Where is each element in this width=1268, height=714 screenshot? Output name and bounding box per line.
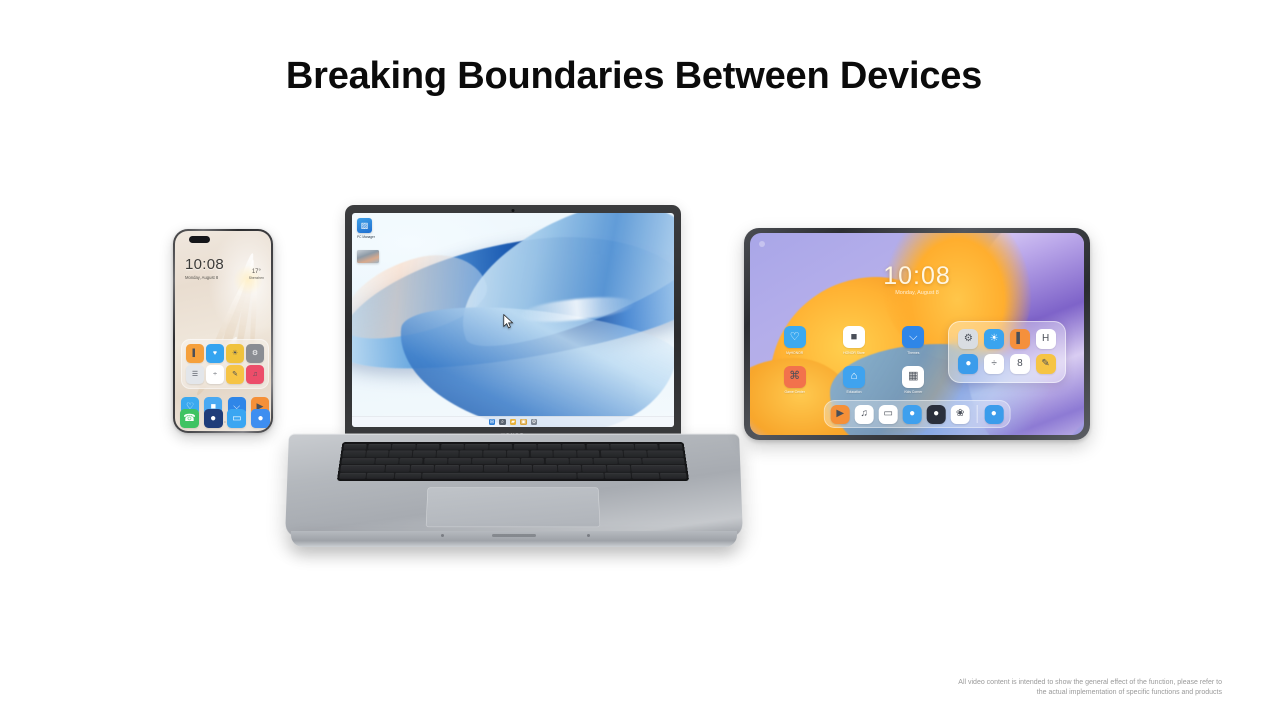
keyboard-key[interactable]: [647, 451, 683, 457]
weather-icon-glyph: ☀: [990, 334, 999, 344]
calendar-icon[interactable]: 8: [1010, 354, 1030, 374]
photos-icon-glyph: ❀: [956, 409, 964, 419]
widget-icon[interactable]: ▦: [902, 366, 924, 388]
keyboard-key[interactable]: [435, 465, 459, 471]
weather-icon[interactable]: ☀: [984, 329, 1004, 349]
laptop-device[interactable]: ▨ PC Manager ⊞⌕▰▣⚙ HONOR: [283, 205, 745, 550]
disclaimer-line-1: All video content is intended to show th…: [802, 678, 1222, 688]
themes-icon-glyph: ⌵: [909, 332, 917, 343]
keyboard-key[interactable]: [339, 473, 366, 479]
phone-weather-widget[interactable]: 17° Shenzhen: [249, 269, 264, 281]
notes-icon[interactable]: ▌: [186, 344, 204, 363]
keyboard-key[interactable]: [538, 444, 561, 450]
gallery-icon-glyph: ●: [933, 409, 939, 419]
camera-icon-glyph: ●: [257, 414, 263, 424]
keyboard-key[interactable]: [570, 458, 593, 464]
keyboard-key[interactable]: [342, 451, 365, 457]
dock-separator: [977, 405, 978, 423]
settings-icon[interactable]: ⚙: [958, 329, 978, 349]
search-icon[interactable]: ⌕: [499, 419, 506, 426]
keyboard-key[interactable]: [483, 451, 505, 457]
messages-icon[interactable]: ▭: [879, 405, 898, 424]
myhonor-icon[interactable]: ♡: [784, 326, 806, 348]
education-icon-glyph: ⌂: [851, 371, 858, 382]
keyboard-row[interactable]: [343, 444, 682, 450]
keyboard-key[interactable]: [410, 465, 434, 471]
rubber-foot-icon: [587, 534, 590, 537]
keyboard-key[interactable]: [366, 451, 389, 457]
status-indicator-icon: [759, 241, 765, 247]
keyboard-key[interactable]: [610, 444, 634, 450]
keyboard-key[interactable]: [600, 451, 623, 457]
keyboard-key[interactable]: [607, 465, 631, 471]
weather-location: Shenzhen: [249, 276, 264, 281]
keyboard-key[interactable]: [460, 465, 484, 471]
notes-icon[interactable]: ▌: [1010, 329, 1030, 349]
myhonor-icon-label: MyHONOR: [774, 351, 815, 355]
keyboard-key[interactable]: [660, 473, 687, 479]
settings-icon-glyph: ⚙: [252, 350, 258, 357]
appmarket-icon[interactable]: ■: [843, 326, 865, 348]
tablet-device[interactable]: 10:08 Monday, August 8 ♡MyHONOR■HONOR St…: [744, 228, 1090, 440]
keyboard-key[interactable]: [367, 473, 394, 479]
phone-lockscreen-clock: 10:08 Monday, August 8: [185, 257, 224, 281]
keyboard-key[interactable]: [659, 444, 683, 450]
memo-icon[interactable]: ✎: [1036, 354, 1056, 374]
keyboard-key[interactable]: [422, 473, 576, 479]
laptop-base: [283, 433, 745, 550]
keyboard-key[interactable]: [484, 465, 507, 471]
laptop-screen[interactable]: ▨ PC Manager ⊞⌕▰▣⚙: [352, 213, 674, 427]
keyboard-key[interactable]: [530, 451, 552, 457]
calculator-icon[interactable]: ÷: [206, 365, 224, 384]
presentation-slide: Breaking Boundaries Between Devices 10:0…: [0, 0, 1268, 714]
messages-icon-glyph: ▭: [232, 414, 241, 424]
keyboard-key[interactable]: [618, 458, 642, 464]
weather-icon[interactable]: ☀: [226, 344, 244, 363]
music-icon[interactable]: ♫: [246, 365, 264, 384]
keyboard-key[interactable]: [399, 458, 423, 464]
music-icon-glyph: ♫: [860, 409, 868, 419]
tablet-clock-time: 10:08: [750, 263, 1084, 289]
file-explorer-icon-glyph: ▰: [511, 420, 515, 425]
video-icon[interactable]: ▶: [831, 405, 850, 424]
calculator-icon[interactable]: ÷: [984, 354, 1004, 374]
store-icon[interactable]: ▣: [520, 419, 527, 426]
themes-icon[interactable]: ⌵: [902, 326, 924, 348]
tablet-home-app-grid[interactable]: ♡MyHONOR■HONOR Store⌵Themes⌘Game Center⌂…: [774, 326, 934, 394]
widget-icon-glyph: ▦: [908, 371, 918, 382]
gamecenter-icon-label: Game Center: [774, 390, 815, 394]
phone-dial-icon-glyph: ☎: [183, 414, 195, 424]
tablet-screen[interactable]: 10:08 Monday, August 8 ♡MyHONOR■HONOR St…: [750, 233, 1084, 435]
start-icon-glyph: ⊞: [490, 420, 494, 425]
disclaimer-footer: All video content is intended to show th…: [802, 678, 1222, 698]
honor-tips-icon-glyph: H: [1042, 334, 1049, 344]
keyboard-key[interactable]: [394, 473, 421, 479]
appmarket-icon-label: HONOR Store: [833, 351, 874, 355]
rubber-foot-icon: [441, 534, 444, 537]
tablet-app-item[interactable]: ⌵Themes: [893, 326, 934, 355]
tablet-app-item[interactable]: ⌘Game Center: [774, 366, 815, 395]
keyboard-key[interactable]: [586, 444, 610, 450]
keyboard-key[interactable]: [521, 458, 544, 464]
keyboard-key[interactable]: [642, 458, 684, 464]
keyboard-key[interactable]: [413, 451, 436, 457]
keyboard-key[interactable]: [514, 444, 537, 450]
keyboard-key[interactable]: [577, 473, 604, 479]
keyboard-key[interactable]: [624, 451, 647, 457]
myhonor-icon-glyph: ♡: [790, 332, 800, 343]
keyboard-key[interactable]: [460, 451, 482, 457]
music-icon[interactable]: ♫: [855, 405, 874, 424]
keyboard-row[interactable]: [342, 451, 683, 457]
edit-icon-glyph: ✎: [232, 371, 238, 378]
keyboard-key[interactable]: [386, 465, 410, 471]
contacts-icon[interactable]: ●: [958, 354, 978, 374]
contacts-icon-glyph: ●: [965, 359, 971, 369]
keyboard-key[interactable]: [489, 444, 512, 450]
health-icon-glyph: ♥: [213, 350, 217, 357]
keyboard-key[interactable]: [605, 473, 632, 479]
keyboard-key[interactable]: [554, 451, 577, 457]
keyboard-key[interactable]: [545, 458, 568, 464]
webcam-icon: [512, 209, 515, 212]
keyboard-row[interactable]: [340, 465, 686, 471]
messages-icon[interactable]: ▭: [227, 409, 246, 428]
notes-icon-glyph: ▌: [193, 350, 198, 357]
keyboard-key[interactable]: [509, 465, 532, 471]
keyboard-key[interactable]: [472, 458, 495, 464]
contacts-icon-glyph: ●: [991, 409, 997, 419]
keyboard-key[interactable]: [465, 444, 488, 450]
keyboard-key[interactable]: [343, 444, 367, 450]
tablet-clock-date: Monday, August 8: [750, 289, 1084, 298]
files-icon[interactable]: ☰: [186, 365, 204, 384]
picture-thumbnail-icon[interactable]: [357, 250, 379, 263]
keyboard-key[interactable]: [340, 465, 385, 471]
settings-icon[interactable]: ⚙: [531, 419, 538, 426]
smartphone-device[interactable]: 10:08 Monday, August 8 17° Shenzhen ▌♥☀⚙…: [173, 229, 273, 433]
messages-icon-glyph: ▭: [883, 409, 892, 419]
contacts-icon[interactable]: ●: [984, 405, 1003, 424]
keyboard-key[interactable]: [562, 444, 585, 450]
keyboard-key[interactable]: [632, 473, 659, 479]
keyboard-key[interactable]: [497, 458, 520, 464]
settings-icon-glyph: ⚙: [532, 420, 536, 425]
settings-icon-glyph: ⚙: [964, 334, 973, 344]
keyboard-key[interactable]: [392, 444, 416, 450]
gallery-icon[interactable]: ●: [927, 405, 946, 424]
keyboard-key[interactable]: [368, 444, 392, 450]
keyboard-key[interactable]: [416, 444, 440, 450]
tablet-folder-panel[interactable]: ⚙☀▌H●÷8✎: [948, 321, 1066, 383]
keyboard-key[interactable]: [582, 465, 606, 471]
keyboard-key[interactable]: [507, 451, 529, 457]
laptop-lid: ▨ PC Manager ⊞⌕▰▣⚙ HONOR: [345, 205, 681, 439]
laptop-deck: [285, 434, 743, 538]
keyboard-key[interactable]: [424, 458, 448, 464]
browser-icon[interactable]: ●: [903, 405, 922, 424]
browser-icon[interactable]: ●: [204, 409, 223, 428]
pc-manager-icon[interactable]: ▨: [357, 218, 372, 233]
keyboard-key[interactable]: [594, 458, 618, 464]
tablet-clock-widget[interactable]: 10:08 Monday, August 8: [750, 263, 1084, 298]
keyboard-key[interactable]: [448, 458, 471, 464]
keyboard-key[interactable]: [389, 451, 412, 457]
tablet-app-item[interactable]: ♡MyHONOR: [774, 326, 815, 355]
gamecenter-icon-glyph: ⌘: [789, 371, 800, 382]
keyboard-key[interactable]: [577, 451, 600, 457]
honor-tips-icon[interactable]: H: [1036, 329, 1056, 349]
tablet-app-item[interactable]: ⌂Education: [833, 366, 874, 395]
keyboard-row[interactable]: [339, 473, 687, 479]
health-icon[interactable]: ♥: [206, 344, 224, 363]
desktop-icons[interactable]: ▨ PC Manager: [357, 218, 391, 263]
pc-manager-label: PC Manager: [357, 235, 391, 240]
video-icon-glyph: ▶: [836, 409, 844, 419]
front-camera-cutout-icon: [189, 236, 210, 243]
keyboard-key[interactable]: [341, 458, 374, 464]
devices-stage: 10:08 Monday, August 8 17° Shenzhen ▌♥☀⚙…: [0, 0, 1268, 714]
phone-folder-panel[interactable]: ▌♥☀⚙☰÷✎♫: [181, 339, 269, 389]
keyboard-key[interactable]: [441, 444, 464, 450]
memo-icon-glyph: ✎: [1041, 359, 1049, 369]
keyboard-key[interactable]: [631, 465, 685, 471]
browser-icon-glyph: ●: [909, 409, 915, 419]
edit-icon[interactable]: ✎: [226, 365, 244, 384]
themes-icon-label: Themes: [893, 351, 934, 355]
tablet-app-item[interactable]: ■HONOR Store: [833, 326, 874, 355]
weather-temperature: 17°: [249, 269, 264, 276]
store-icon-glyph: ▣: [521, 420, 526, 425]
tablet-dock[interactable]: ▶♫▭●●❀●: [824, 400, 1011, 428]
phone-clock-date: Monday, August 8: [185, 274, 224, 281]
settings-icon[interactable]: ⚙: [246, 344, 264, 363]
keyboard-row[interactable]: [341, 458, 685, 464]
search-icon-glyph: ⌕: [501, 420, 504, 425]
phone-screen[interactable]: 10:08 Monday, August 8 17° Shenzhen ▌♥☀⚙…: [175, 231, 271, 431]
laptop-keyboard[interactable]: [337, 442, 689, 481]
keyboard-key[interactable]: [436, 451, 459, 457]
gamecenter-icon[interactable]: ⌘: [784, 366, 806, 388]
lid-open-notch-icon: [492, 534, 536, 537]
keyboard-key[interactable]: [375, 458, 399, 464]
photos-icon[interactable]: ❀: [951, 405, 970, 424]
files-icon-glyph: ☰: [192, 371, 198, 378]
calculator-icon-glyph: ÷: [991, 359, 997, 369]
calendar-icon-glyph: 8: [1017, 359, 1023, 369]
widget-icon-label: Kids Corner: [893, 390, 934, 394]
education-icon[interactable]: ⌂: [843, 366, 865, 388]
calculator-icon-glyph: ÷: [213, 371, 217, 378]
disclaimer-line-2: the actual implementation of specific fu…: [802, 688, 1222, 698]
browser-icon-glyph: ●: [210, 414, 216, 424]
windows-taskbar[interactable]: ⊞⌕▰▣⚙: [352, 416, 674, 427]
camera-icon[interactable]: ●: [251, 409, 270, 428]
phone-dial-icon[interactable]: ☎: [180, 409, 199, 428]
laptop-front-edge: [291, 531, 737, 547]
weather-icon-glyph: ☀: [232, 350, 238, 357]
education-icon-label: Education: [833, 390, 874, 394]
phone-clock-time: 10:08: [185, 257, 224, 273]
keyboard-key[interactable]: [533, 465, 557, 471]
notes-icon-glyph: ▌: [1016, 334, 1023, 344]
keyboard-key[interactable]: [558, 465, 582, 471]
appmarket-icon-glyph: ■: [851, 332, 858, 343]
music-icon-glyph: ♫: [252, 371, 257, 378]
pc-manager-glyph: ▨: [361, 221, 369, 230]
phone-dock[interactable]: ☎●▭●: [180, 409, 270, 428]
start-icon[interactable]: ⊞: [489, 419, 496, 426]
keyboard-key[interactable]: [635, 444, 659, 450]
file-explorer-icon[interactable]: ▰: [510, 419, 517, 426]
laptop-trackpad[interactable]: [426, 487, 600, 527]
tablet-app-item[interactable]: ▦Kids Corner: [893, 366, 934, 395]
